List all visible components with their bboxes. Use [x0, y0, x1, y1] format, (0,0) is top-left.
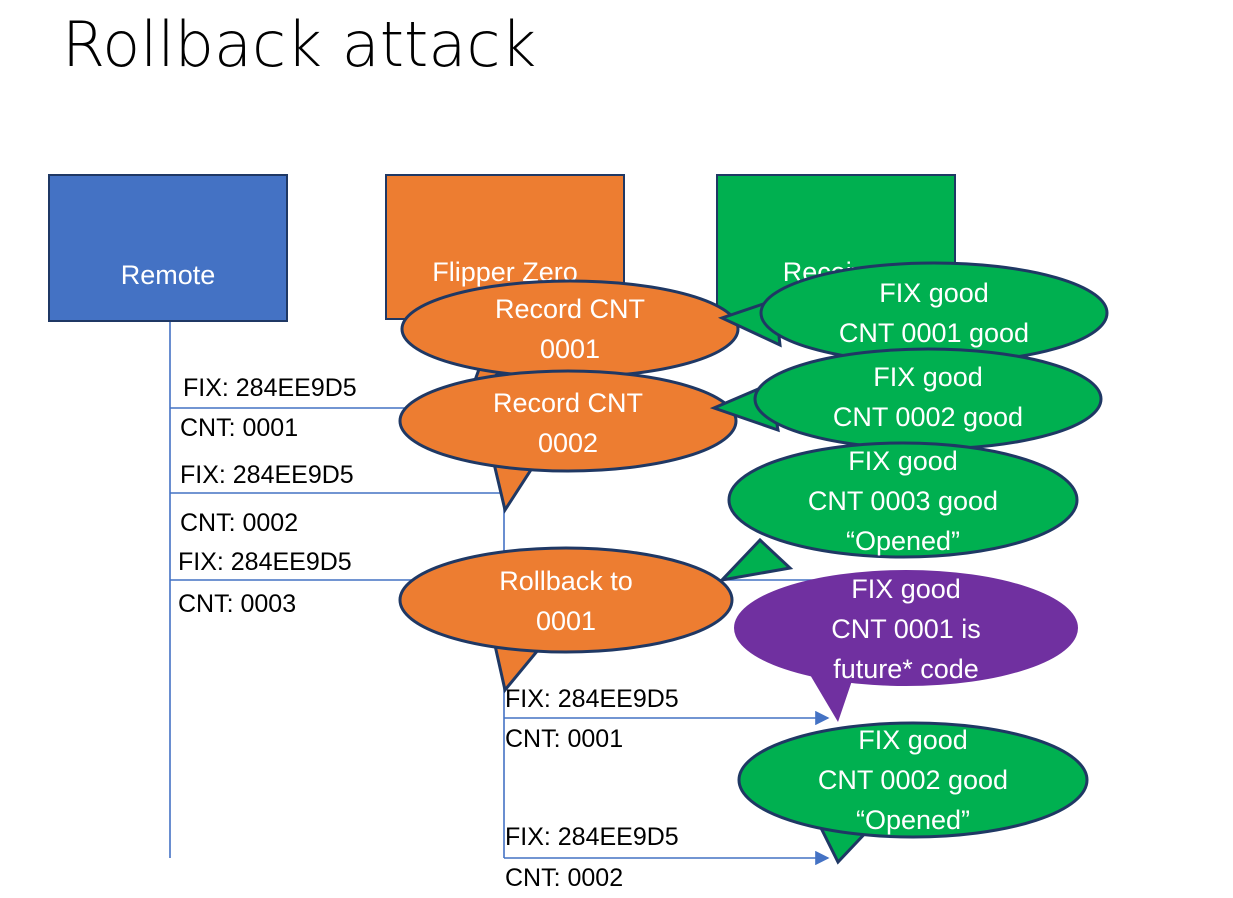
callout-shape-fix-cnt0002-good[interactable]: [714, 349, 1101, 449]
message-cnt-m5: CNT: 0002: [505, 864, 623, 892]
message-fix-m5: FIX: 284EE9D5: [505, 823, 679, 851]
message-cnt-m1: CNT: 0001: [180, 414, 298, 442]
callout-shape-record-0002[interactable]: [400, 371, 736, 510]
callouts-layer: [0, 0, 1233, 898]
message-cnt-m4: CNT: 0001: [505, 725, 623, 753]
message-fix-m3: FIX: 284EE9D5: [178, 548, 352, 576]
message-cnt-m2: CNT: 0002: [180, 509, 298, 537]
message-cnt-m3: CNT: 0003: [178, 590, 296, 618]
callout-shape-future-code[interactable]: [734, 570, 1078, 722]
callout-shape-fix-cnt0003-opened[interactable]: [722, 443, 1077, 580]
slide-canvas: Rollback attack Remote Flipper Zero Rece…: [0, 0, 1233, 898]
callout-shape-fix-cnt0002-opened[interactable]: [739, 723, 1087, 862]
callout-shape-rollback-0001[interactable]: [400, 548, 732, 690]
message-fix-m4: FIX: 284EE9D5: [505, 685, 679, 713]
message-fix-m2: FIX: 284EE9D5: [180, 461, 354, 489]
message-fix-m1: FIX: 284EE9D5: [183, 374, 357, 402]
